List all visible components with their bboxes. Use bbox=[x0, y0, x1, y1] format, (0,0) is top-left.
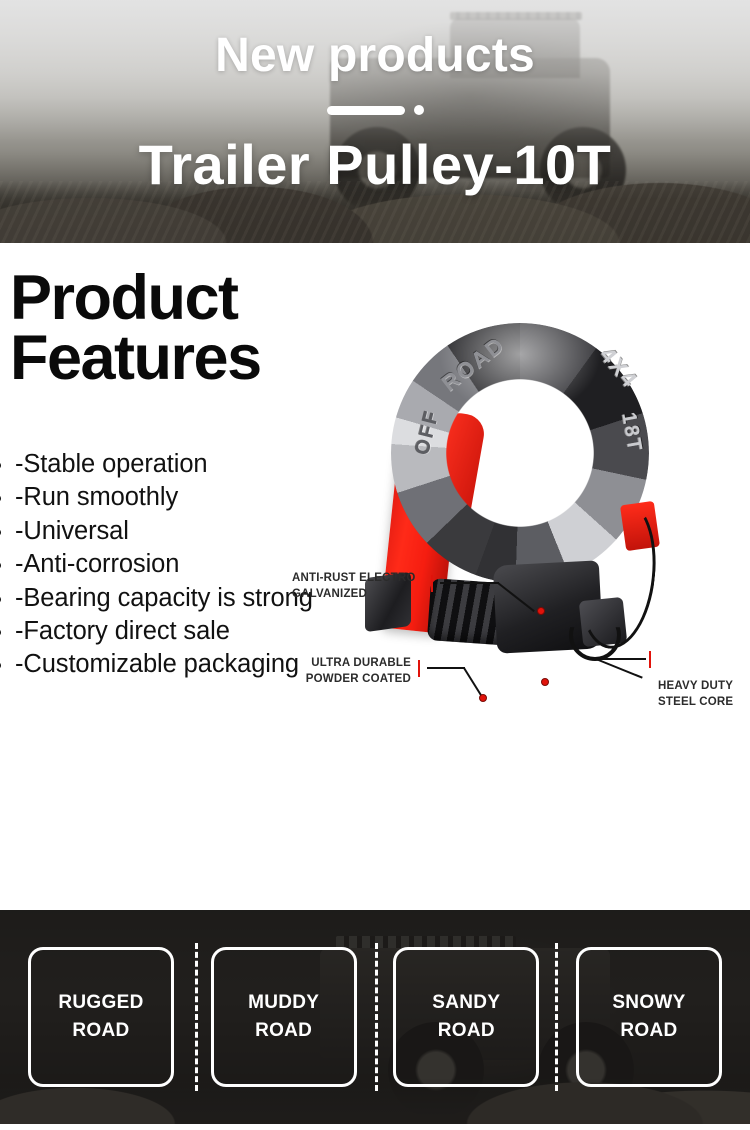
card-line-1: RUGGED bbox=[58, 989, 143, 1017]
callout-line-1: ULTRA DURABLE bbox=[287, 656, 411, 672]
card-line-2: ROAD bbox=[248, 1017, 319, 1045]
heading-line-1: Product bbox=[10, 268, 310, 328]
card-line-2: ROAD bbox=[58, 1017, 143, 1045]
callout-anchor-dot bbox=[541, 678, 549, 686]
terrain-card-snowy-road[interactable]: SNOWY ROAD bbox=[576, 947, 722, 1087]
callout-leader-line bbox=[427, 667, 465, 669]
callout-heavy-duty-steel-core: HEAVY DUTY STEEL CORE bbox=[658, 661, 733, 710]
hero-kicker: New products bbox=[215, 32, 535, 80]
callout-anchor-dot bbox=[479, 694, 487, 702]
callout-leader-line bbox=[440, 582, 499, 584]
terrain-card-row: RUGGED ROAD MUDDY ROAD SANDY ROAD SNOWY … bbox=[0, 910, 750, 1124]
card-line-1: SANDY bbox=[432, 989, 500, 1017]
product-features-section: Product Features -Stable operation -Run … bbox=[0, 243, 750, 910]
terrain-card-sandy-road[interactable]: SANDY ROAD bbox=[393, 947, 539, 1087]
terrain-card-muddy-road[interactable]: MUDDY ROAD bbox=[211, 947, 357, 1087]
feature-bullet-list: -Stable operation -Run smoothly -Univers… bbox=[15, 448, 385, 682]
hero-banner: New products Trailer Pulley-10T bbox=[0, 0, 750, 243]
callout-anti-rust-galvanized: ANTI-RUST ELECTRO GALVANIZED bbox=[292, 571, 416, 602]
card-line-2: ROAD bbox=[432, 1017, 500, 1045]
hero-product-title: Trailer Pulley-10T bbox=[139, 137, 612, 193]
callout-red-tick bbox=[431, 575, 433, 592]
callout-anchor-dot bbox=[537, 607, 545, 615]
shackle-assembly: ROAD OFF 4X4 18T bbox=[355, 313, 685, 693]
divider-bar-icon bbox=[327, 106, 405, 115]
feature-list-item: -Stable operation bbox=[15, 448, 385, 481]
callout-line-2: GALVANIZED bbox=[292, 587, 416, 603]
feature-list-item: -Run smoothly bbox=[15, 481, 385, 514]
callout-line-2: STEEL CORE bbox=[658, 695, 733, 711]
product-image-shackle: ROAD OFF 4X4 18T bbox=[355, 313, 685, 693]
heading-line-2: Features bbox=[10, 328, 310, 388]
callout-red-tick bbox=[649, 651, 651, 668]
callout-line-1: HEAVY DUTY bbox=[658, 679, 733, 695]
divider-dot-icon bbox=[414, 105, 424, 115]
terrain-card-rugged-road[interactable]: RUGGED ROAD bbox=[28, 947, 174, 1087]
card-line-1: SNOWY bbox=[612, 989, 685, 1017]
callout-ultra-durable-powder-coated: ULTRA DURABLE POWDER COATED bbox=[287, 656, 411, 687]
feature-list-item: -Universal bbox=[15, 515, 385, 548]
feature-list-item: -Factory direct sale bbox=[15, 615, 385, 648]
hero-divider bbox=[327, 105, 424, 115]
card-line-1: MUDDY bbox=[248, 989, 319, 1017]
callout-line-1: ANTI-RUST ELECTRO bbox=[292, 571, 416, 587]
terrain-usecases-section: RUGGED ROAD MUDDY ROAD SANDY ROAD SNOWY … bbox=[0, 910, 750, 1124]
product-features-heading: Product Features bbox=[10, 268, 310, 389]
card-line-2: ROAD bbox=[612, 1017, 685, 1045]
callout-red-tick bbox=[418, 660, 420, 677]
callout-line-2: POWDER COATED bbox=[287, 672, 411, 688]
